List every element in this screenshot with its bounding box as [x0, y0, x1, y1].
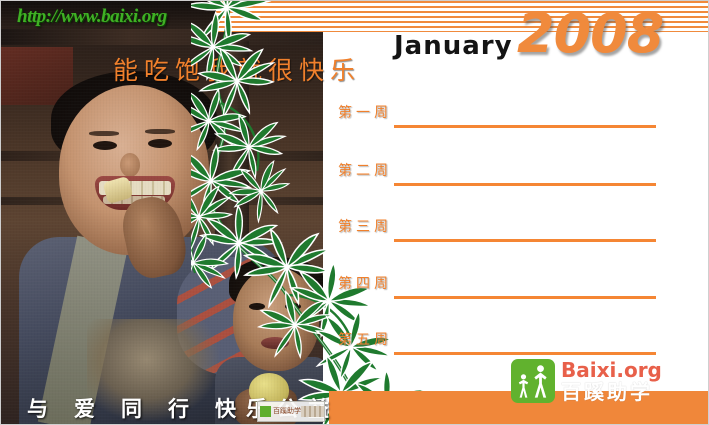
photo-watermark-badge: 百蹊助学 [257, 401, 325, 422]
logo-chinese-text: 百蹊助学 [561, 383, 662, 403]
watermark-badge-text: 百蹊助学 [273, 408, 301, 415]
logo-adult-figure-icon [533, 365, 548, 398]
calendar-poster: http://www.baixi.org 能吃饱我就很快乐 [0, 0, 709, 425]
baixi-logo[interactable]: Baixi.org 百蹊助学 [511, 359, 662, 403]
logo-child-figure-icon [518, 374, 529, 398]
week-write-line-1[interactable] [394, 125, 656, 128]
week-write-line-3[interactable] [394, 239, 656, 242]
week-write-line-4[interactable] [394, 296, 656, 299]
watermark-bar [301, 406, 324, 417]
week-row-4: 第四周 [338, 273, 658, 303]
logo-wordmark: Baixi.org 百蹊助学 [561, 359, 662, 403]
week-label-4: 第四周 [338, 273, 392, 293]
week-label-5: 第五周 [338, 329, 392, 349]
logo-english-text: Baixi.org [561, 360, 662, 380]
photo-slogan-text: 能吃饱我就很快乐 [113, 51, 361, 87]
month-name: January [394, 31, 513, 61]
watermark-logo-square-icon [260, 406, 271, 417]
week-label-2: 第二周 [338, 160, 392, 180]
logo-adult-and-child-icon [511, 359, 555, 403]
year-number: 2008 [517, 7, 663, 61]
week-label-1: 第一周 [338, 102, 392, 122]
week-row-3: 第三周 [338, 216, 658, 246]
week-row-1: 第一周 [338, 102, 658, 132]
week-write-line-2[interactable] [394, 183, 656, 186]
bottom-slogan-left: 与爱同行 [27, 398, 215, 421]
week-label-3: 第三周 [338, 216, 392, 236]
week-row-5: 第五周 [338, 329, 658, 359]
week-write-line-5[interactable] [394, 352, 656, 355]
week-row-2: 第二周 [338, 160, 658, 190]
site-url-watermark: http://www.baixi.org [17, 6, 167, 28]
